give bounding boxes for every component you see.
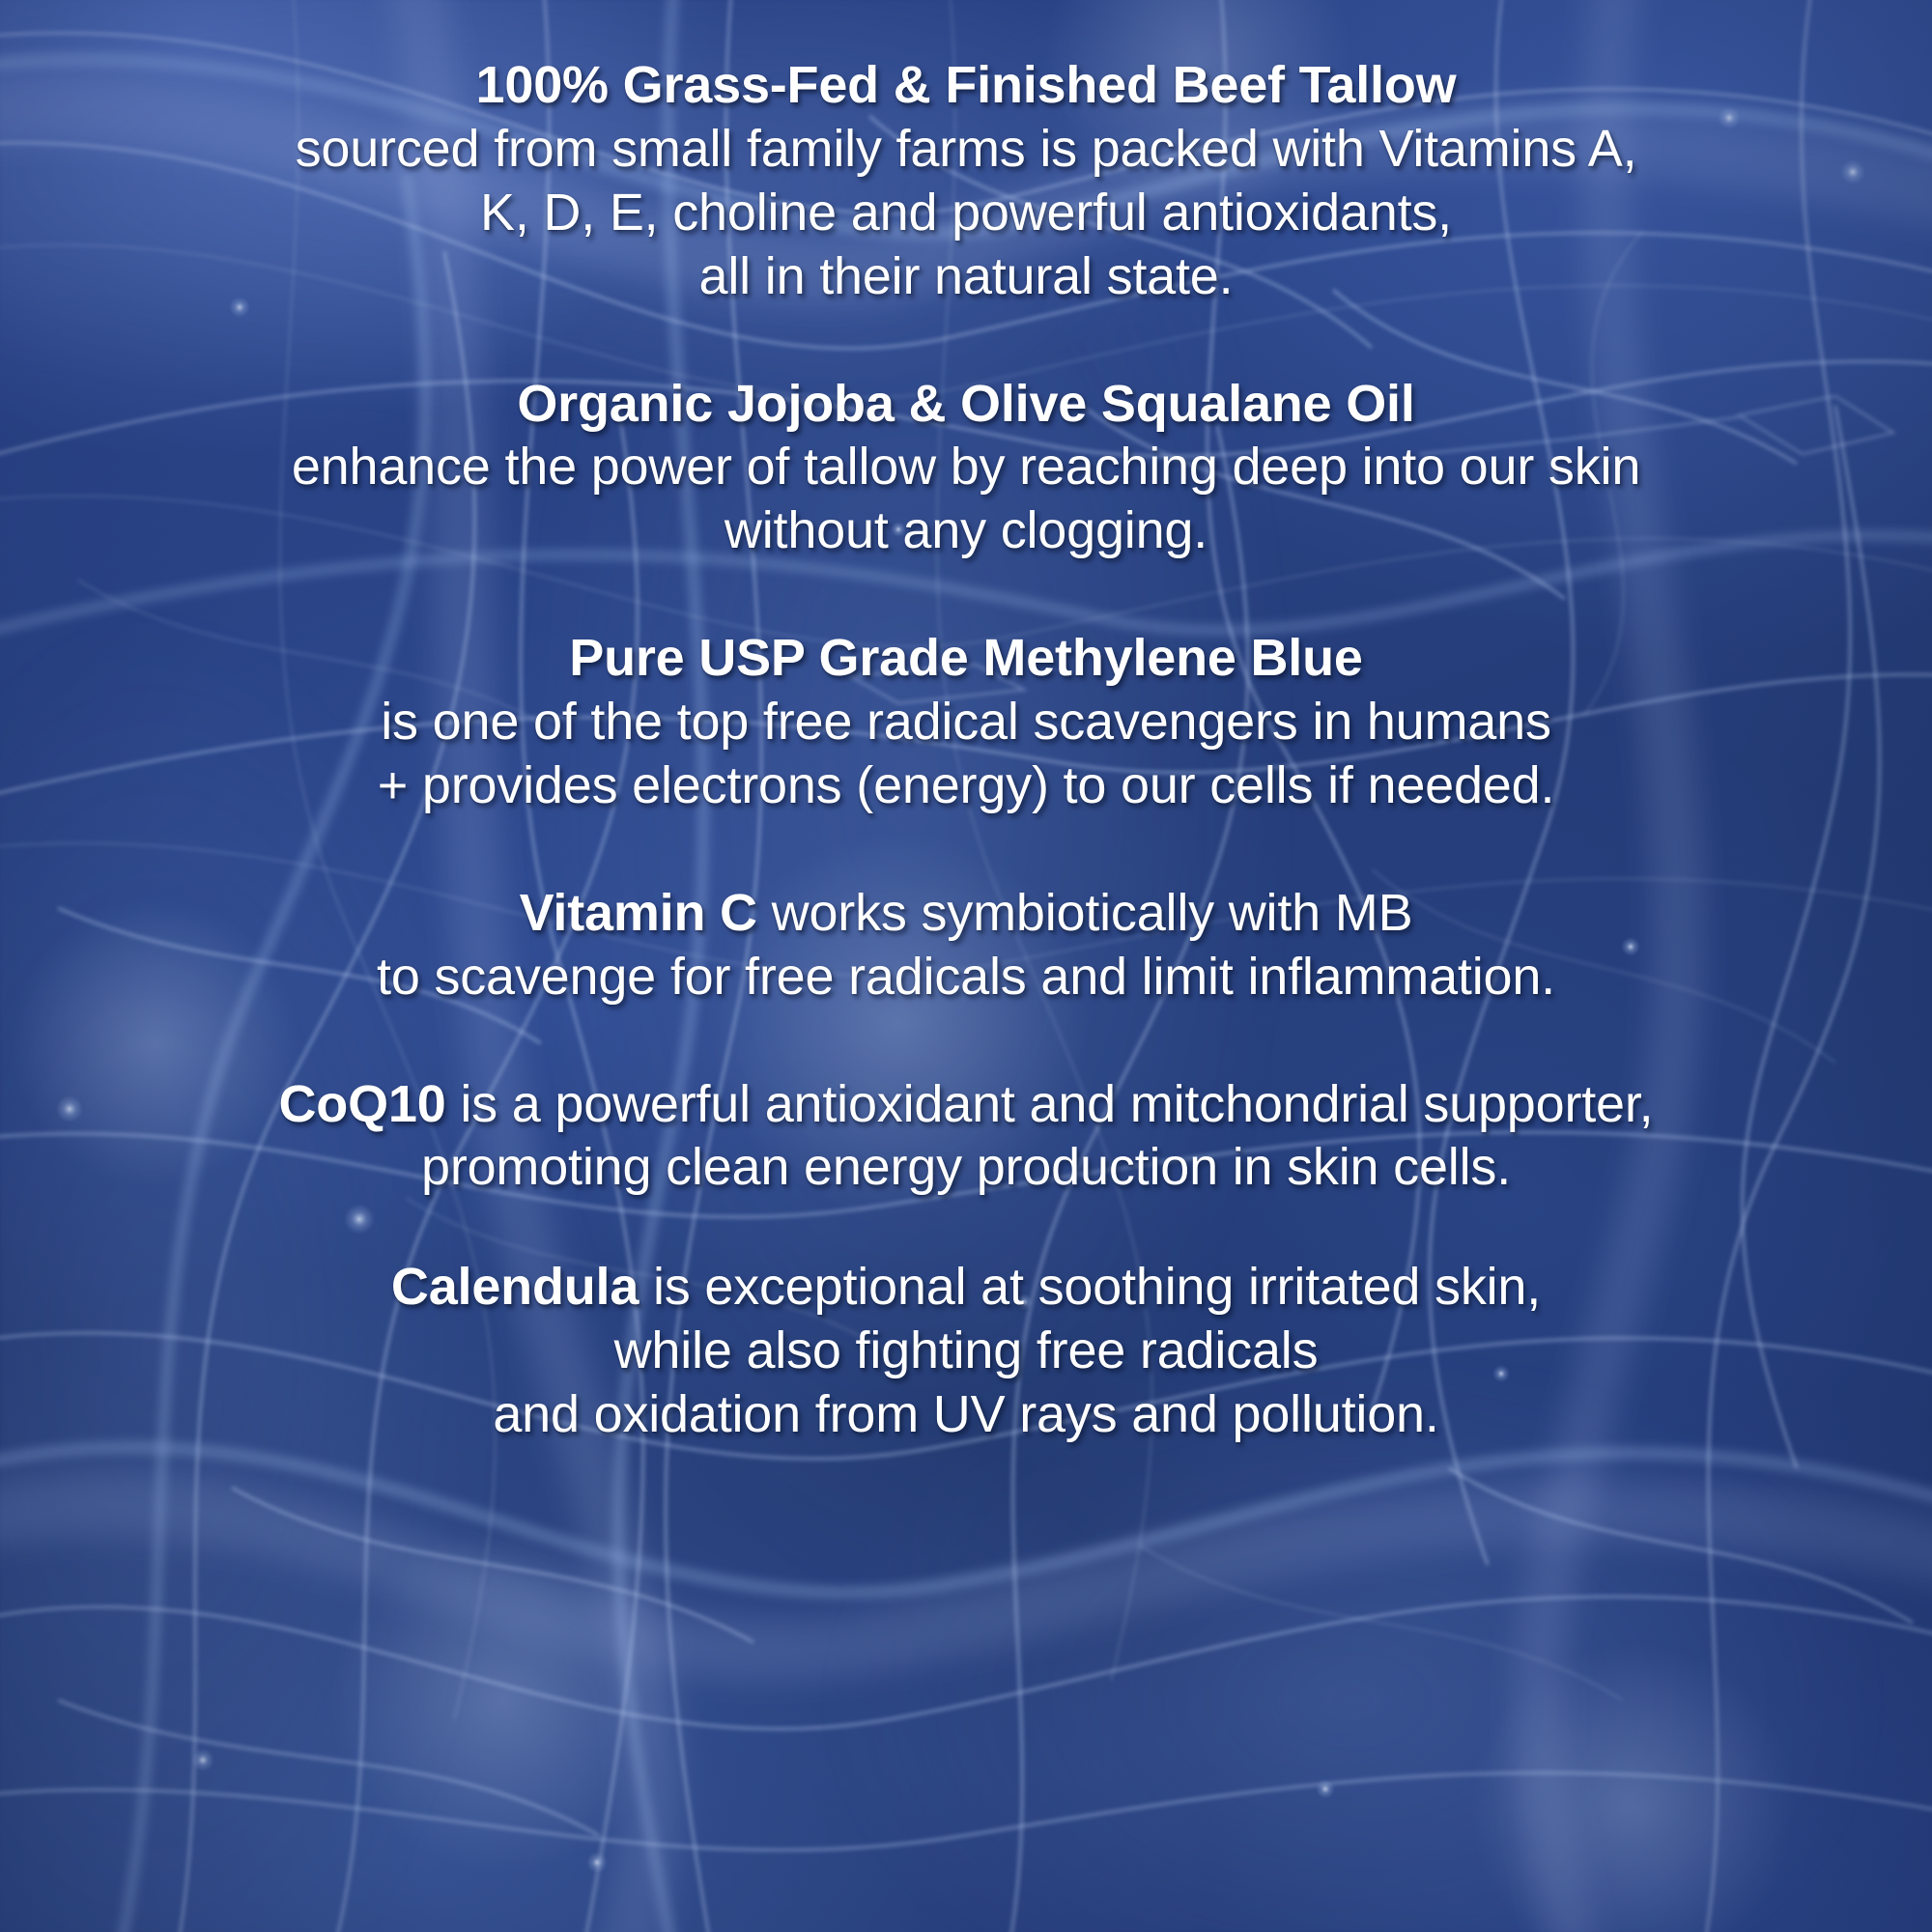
benefit-lead-coq10: CoQ10 bbox=[279, 1075, 446, 1133]
benefit-line: + provides electrons (energy) to our cel… bbox=[39, 754, 1893, 818]
benefit-lead-vitamin-c: Vitamin C bbox=[520, 884, 757, 942]
benefit-block-methylene-blue: Pure USP Grade Methylene Blue is one of … bbox=[39, 627, 1893, 818]
benefit-line: is one of the top free radical scavenger… bbox=[39, 691, 1893, 754]
benefit-line: enhance the power of tallow by reaching … bbox=[39, 436, 1893, 499]
benefit-block-jojoba-squalane: Organic Jojoba & Olive Squalane Oil enha… bbox=[39, 373, 1893, 564]
benefit-line: sourced from small family farms is packe… bbox=[39, 118, 1893, 182]
benefit-line: and oxidation from UV rays and pollution… bbox=[39, 1383, 1893, 1447]
benefit-lead-beef-tallow: 100% Grass-Fed & Finished Beef Tallow bbox=[39, 54, 1893, 118]
benefit-line: without any clogging. bbox=[39, 499, 1893, 563]
ingredient-benefits-poster: 100% Grass-Fed & Finished Beef Tallow so… bbox=[0, 0, 1932, 1932]
benefit-line: to scavenge for free radicals and limit … bbox=[39, 946, 1893, 1009]
benefit-lead-methylene-blue: Pure USP Grade Methylene Blue bbox=[39, 627, 1893, 691]
benefit-block-vitamin-c: Vitamin C works symbiotically with MB to… bbox=[39, 882, 1893, 1009]
benefit-lead-calendula: Calendula bbox=[391, 1258, 639, 1316]
benefit-lead-rest: works symbiotically with MB bbox=[757, 884, 1413, 942]
benefit-lead-jojoba-squalane: Organic Jojoba & Olive Squalane Oil bbox=[39, 373, 1893, 437]
benefit-line: all in their natural state. bbox=[39, 245, 1893, 309]
benefit-line: K, D, E, choline and powerful antioxidan… bbox=[39, 182, 1893, 245]
benefit-line: while also fighting free radicals bbox=[39, 1320, 1893, 1383]
benefit-first-line: Vitamin C works symbiotically with MB bbox=[39, 882, 1893, 946]
benefit-first-line: Calendula is exceptional at soothing irr… bbox=[39, 1256, 1893, 1320]
benefit-block-beef-tallow: 100% Grass-Fed & Finished Beef Tallow so… bbox=[39, 54, 1893, 309]
benefit-block-coq10: CoQ10 is a powerful antioxidant and mitc… bbox=[39, 1073, 1893, 1201]
benefit-block-calendula: Calendula is exceptional at soothing irr… bbox=[39, 1256, 1893, 1447]
benefits-text-content: 100% Grass-Fed & Finished Beef Tallow so… bbox=[0, 0, 1932, 1932]
benefit-lead-rest: is a powerful antioxidant and mitchondri… bbox=[446, 1075, 1654, 1133]
benefit-lead-rest: is exceptional at soothing irritated ski… bbox=[639, 1258, 1541, 1316]
benefit-first-line: CoQ10 is a powerful antioxidant and mitc… bbox=[39, 1073, 1893, 1137]
benefit-line: promoting clean energy production in ski… bbox=[39, 1136, 1893, 1200]
